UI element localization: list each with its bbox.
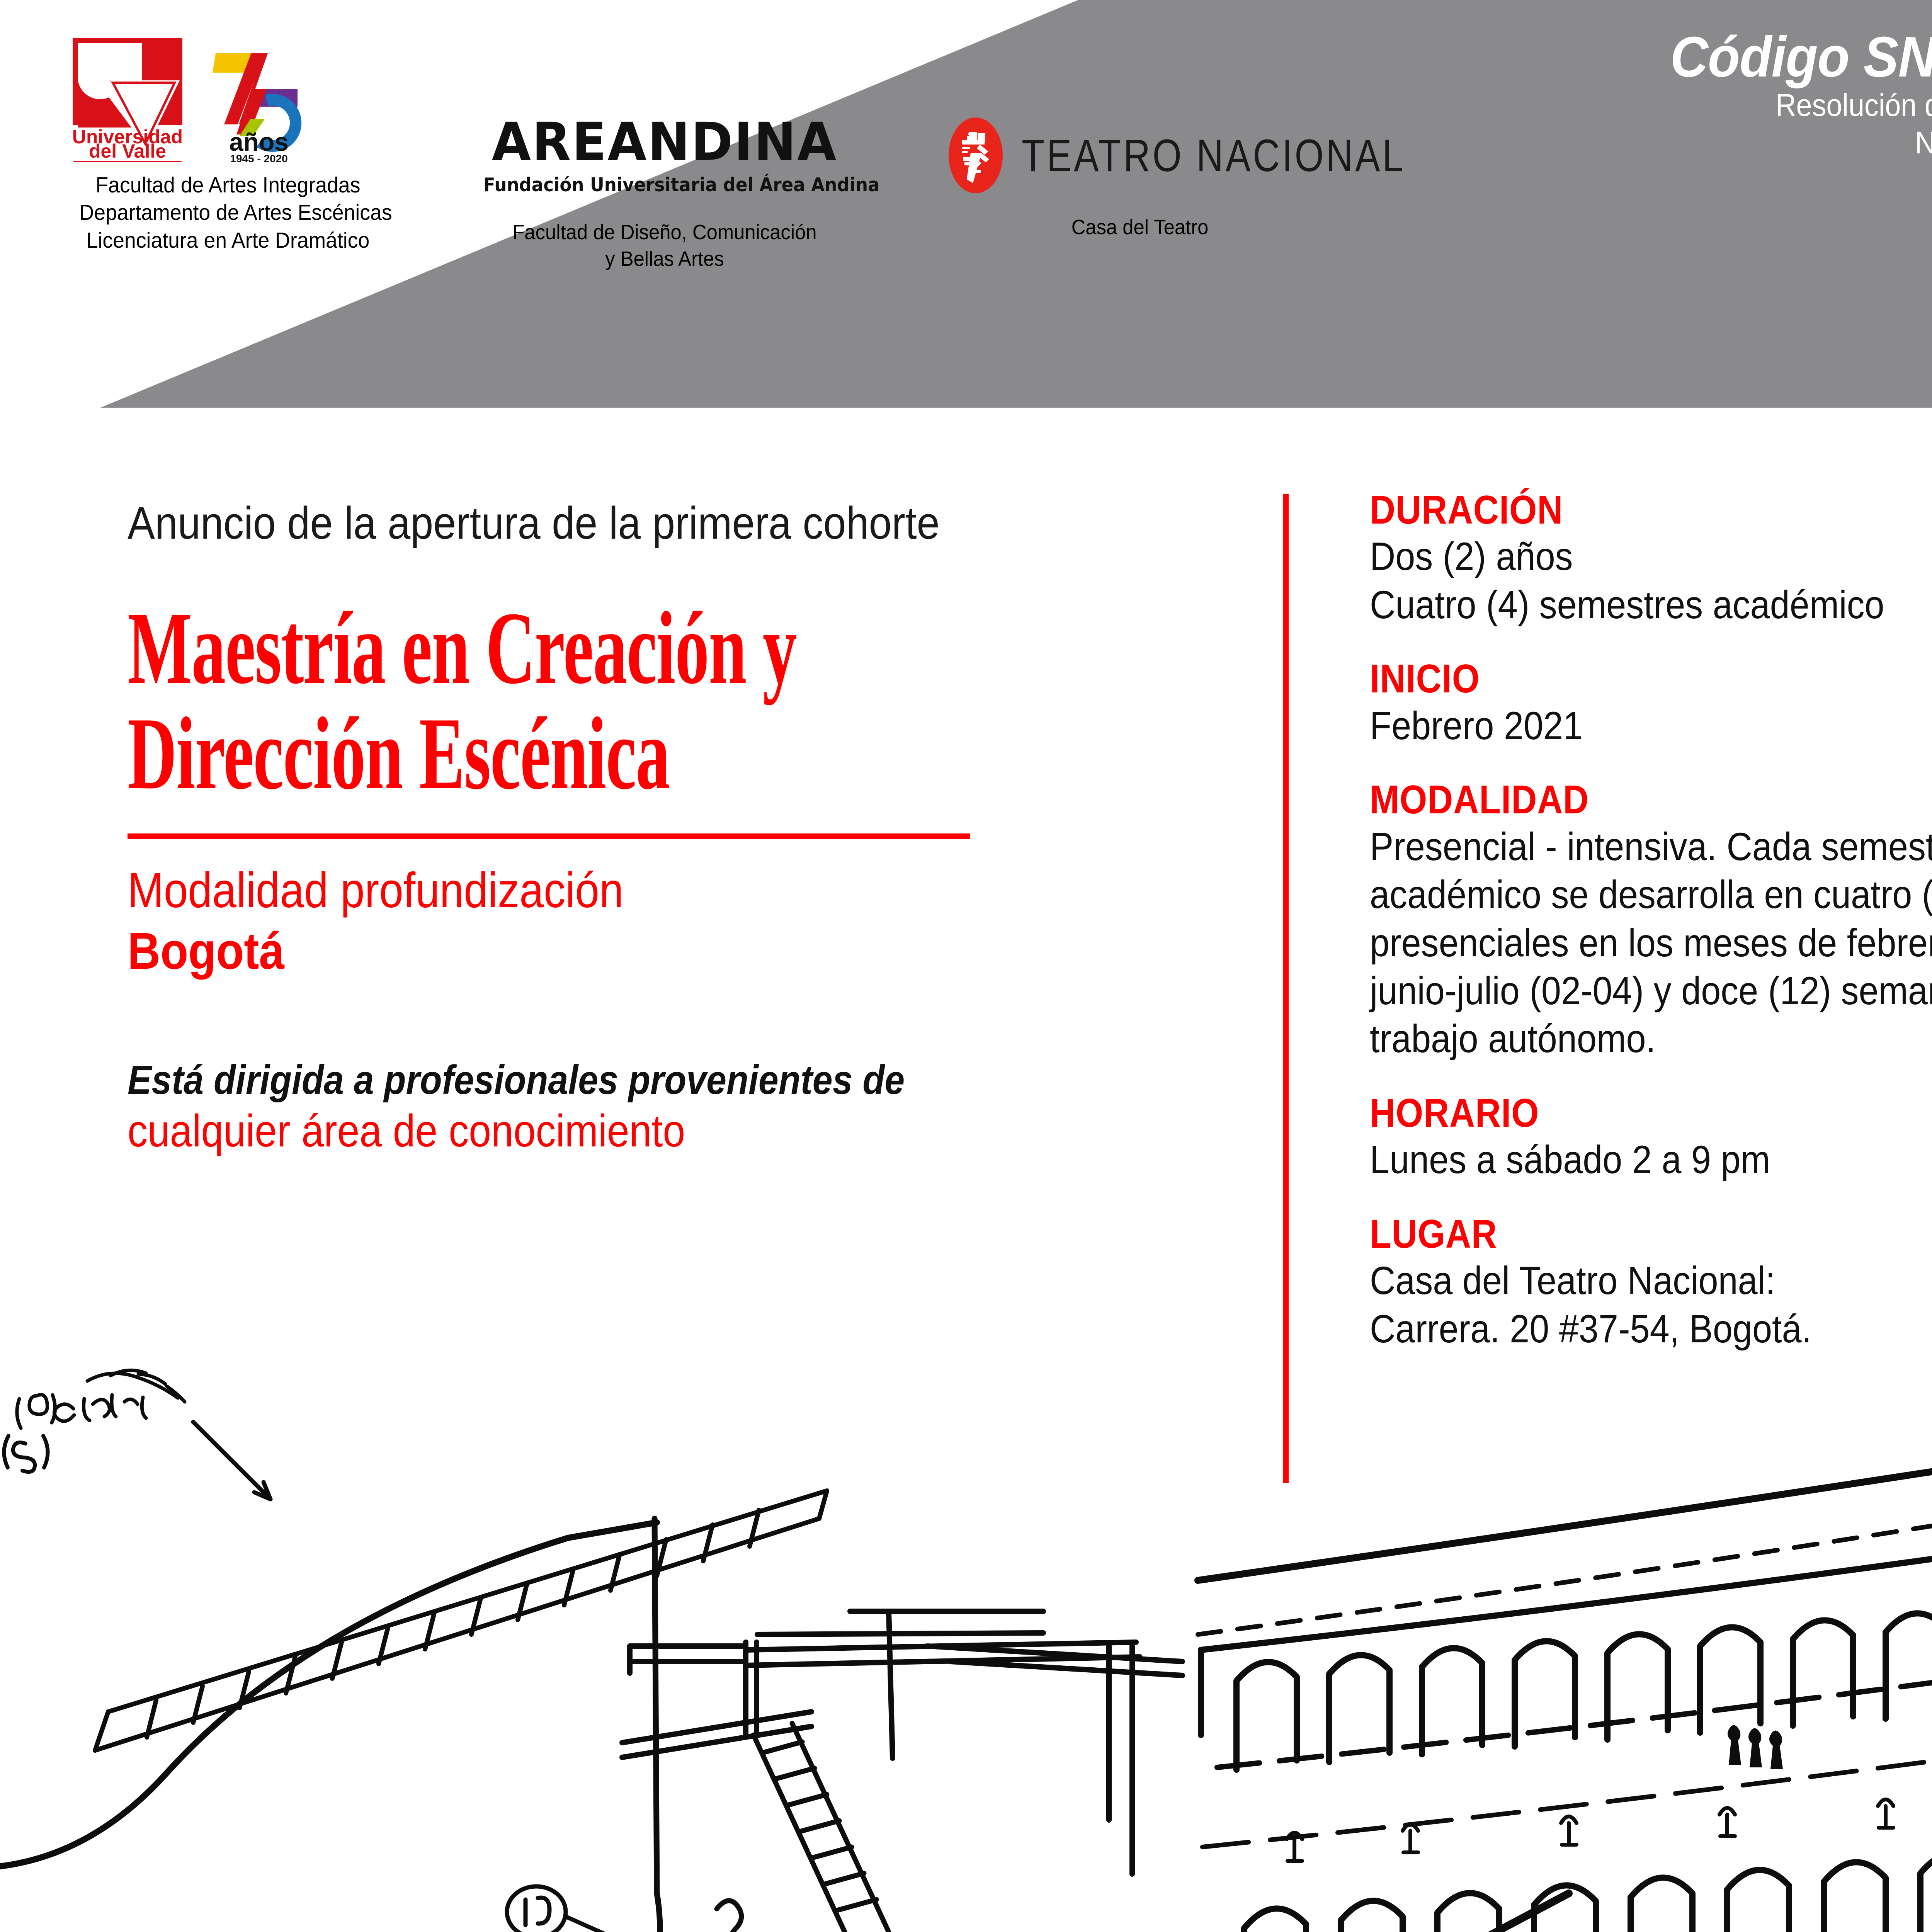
info-value-lugar-1: Casa del Teatro Nacional: — [1370, 1257, 1932, 1304]
modality-text-wrap: Modalidad profundización Bogotá — [128, 863, 1240, 979]
logos-row: Universidad del Valle años — [0, 0, 1430, 348]
column-divider — [1283, 494, 1289, 1483]
info-value-inicio-1: Febrero 2021 — [1370, 702, 1932, 750]
svg-text:años: años — [229, 128, 289, 156]
info-value-duracion-2: Cuatro (4) semestres académico — [1370, 581, 1932, 629]
announcement-kicker: Anuncio de la apertura de la primera coh… — [128, 498, 1129, 549]
areandina-wordmark: AREANDINA — [475, 116, 854, 168]
snies-resolution-line-1: Resolución del Ministerio de Educación N… — [1655, 87, 1932, 124]
univalle-caption: Facultad de Artes Integradas Departament… — [79, 172, 377, 254]
univalle-caption-line-1: Facultad de Artes Integradas — [79, 172, 377, 199]
program-title-line-2: Dirección Escénica — [128, 701, 862, 806]
city-text: Bogotá — [128, 924, 1107, 979]
info-label-lugar: LUGAR — [1370, 1212, 1932, 1257]
program-details-column: DURACIÓN Dos (2) años Cuatro (4) semestr… — [1370, 488, 1932, 1353]
snies-resolution-line-2: No. 015658, 18 de diciembre de 2019 — [1655, 124, 1932, 162]
program-title: Maestría en Creación y Dirección Escénic… — [128, 595, 862, 806]
title-divider-rule — [128, 833, 970, 839]
info-label-horario: HORARIO — [1370, 1091, 1932, 1136]
info-label-duracion: DURACIÓN — [1370, 488, 1932, 532]
univalle-lockup: Universidad del Valle años — [70, 35, 386, 254]
program-title-line-1: Maestría en Creación y — [128, 595, 862, 701]
areandina-lockup: AREANDINA Fundación Universitaria del Ár… — [468, 116, 862, 272]
info-value-modalidad-5: trabajo autónomo. — [1370, 1015, 1932, 1063]
snies-vigilancia-line: Vigilada Mineducación — [1655, 162, 1932, 199]
teatro-nacional-row: TEATRO NACIONAL — [947, 116, 1410, 195]
teatro-nacional-logo-icon — [947, 116, 1005, 195]
theatre-sketch-svg — [0, 1341, 1932, 1932]
areandina-subtitle: Fundación Universitaria del Área Andina — [483, 174, 846, 196]
modality-text: Modalidad profundización — [128, 863, 1107, 918]
univalle-marks: Universidad del Valle años — [70, 35, 386, 162]
info-value-horario-1: Lunes a sábado 2 a 9 pm — [1370, 1136, 1932, 1184]
info-value-duracion-1: Dos (2) años — [1370, 532, 1932, 580]
teatro-nacional-wordmark: TEATRO NACIONAL — [1022, 129, 1405, 182]
info-label-modalidad: MODALIDAD — [1370, 777, 1932, 822]
areandina-faculty: Facultad de Diseño, Comunicación y Bella… — [480, 219, 850, 272]
info-group-inicio: INICIO Febrero 2021 — [1370, 656, 1932, 750]
univalle-caption-line-2: Departamento de Artes Escénicas — [79, 199, 377, 226]
areandina-faculty-line-2: y Bellas Artes — [480, 246, 850, 272]
audience-line-1: Está dirigida a profesionales provenient… — [128, 1056, 1107, 1104]
svg-text:del Valle: del Valle — [89, 140, 166, 162]
info-group-horario: HORARIO Lunes a sábado 2 a 9 pm — [1370, 1091, 1932, 1184]
areandina-faculty-line-1: Facultad de Diseño, Comunicación — [480, 219, 850, 246]
75-anos-anniversary-logo-icon: años 1945 - 2020 — [201, 35, 317, 162]
snies-info-block: Código SNIES MCDE: 108756 Resolución del… — [1573, 27, 1932, 199]
info-value-modalidad-1: Presencial - intensiva. Cada semestre — [1370, 823, 1932, 871]
teatro-nacional-subtitle: Casa del Teatro — [958, 215, 1321, 239]
univalle-caption-line-3: Licenciatura en Arte Dramático — [79, 227, 377, 254]
theatre-sketch-illustration — [0, 1341, 1932, 1932]
audience-line-2: cualquier área de conocimiento — [128, 1104, 1107, 1158]
poster-canvas: Código SNIES MCDE: 108756 Resolución del… — [0, 0, 1932, 1932]
info-value-modalidad-3: presenciales en los meses de febrero (01… — [1370, 919, 1932, 967]
snies-code-text: Código SNIES MCDE: 108756 — [1639, 27, 1932, 87]
universidad-del-valle-logo-icon: Universidad del Valle — [70, 35, 185, 162]
info-group-duracion: DURACIÓN Dos (2) años Cuatro (4) semestr… — [1370, 488, 1932, 629]
audience-block: Está dirigida a profesionales provenient… — [128, 1056, 1240, 1158]
info-label-inicio: INICIO — [1370, 656, 1932, 701]
info-group-modalidad: MODALIDAD Presencial - intensiva. Cada s… — [1370, 777, 1932, 1063]
teatro-nacional-lockup: TEATRO NACIONAL Casa del Teatro — [947, 116, 1410, 239]
info-value-modalidad-4: junio-julio (02-04) y doce (12) semanas … — [1370, 967, 1932, 1015]
info-value-modalidad-2: académico se desarrolla en cuatro (4) se… — [1370, 871, 1932, 918]
svg-text:1945 - 2020: 1945 - 2020 — [230, 153, 287, 162]
info-group-lugar: LUGAR Casa del Teatro Nacional: Carrera.… — [1370, 1212, 1932, 1353]
program-intro-column: Anuncio de la apertura de la primera coh… — [128, 498, 1240, 1158]
